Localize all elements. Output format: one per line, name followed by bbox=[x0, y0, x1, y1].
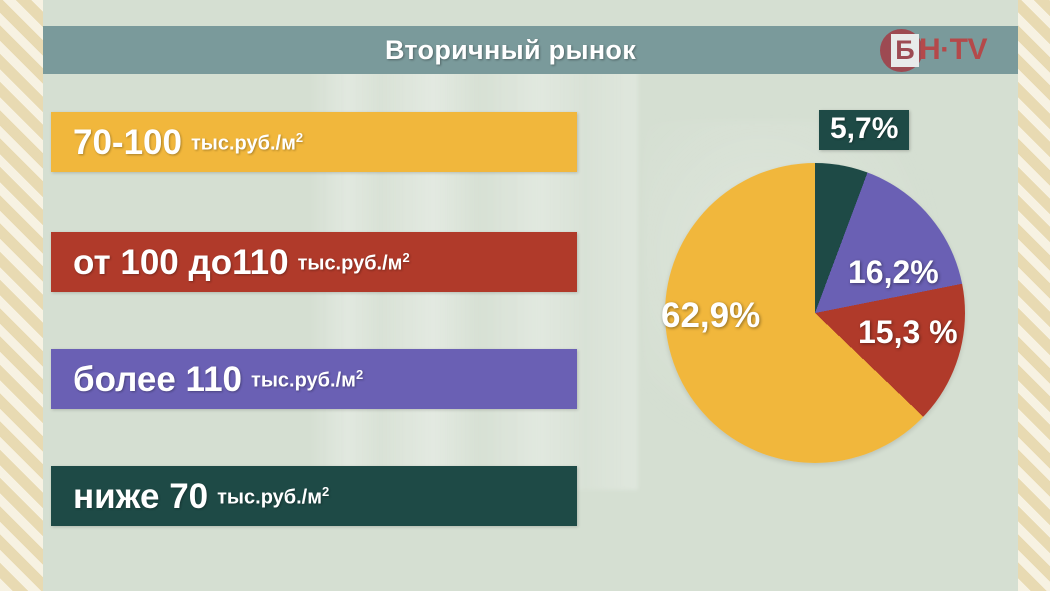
legend-item-unit: тыс.руб./м2 bbox=[191, 131, 303, 154]
legend-item-100-110: от 100 до110 тыс.руб./м2 bbox=[51, 232, 577, 292]
legend-item-unit: тыс.руб./м2 bbox=[298, 251, 410, 274]
legend-item-range: ниже 70 bbox=[73, 479, 208, 514]
infographic-panel: Вторичный рынок Б Н·TV 70-100 тыс.руб./м… bbox=[43, 0, 1018, 591]
pie-slice-label-teal: 5,7% bbox=[830, 112, 898, 145]
pie-slice-callout-teal: 5,7% bbox=[819, 110, 909, 150]
legend-item-above-110: более 110 тыс.руб./м2 bbox=[51, 349, 577, 409]
legend-item-range: от 100 до110 bbox=[73, 245, 289, 280]
legend-item-unit: тыс.руб./м2 bbox=[217, 485, 329, 508]
pie-slice-label-purple: 16,2% bbox=[848, 256, 939, 288]
pie-chart: 62,9% 16,2% 15,3 % bbox=[623, 163, 943, 463]
logo-letter-box: Б bbox=[891, 34, 919, 67]
header-bar: Вторичный рынок bbox=[43, 26, 1018, 74]
legend-item-unit: тыс.руб./м2 bbox=[251, 368, 363, 391]
screenshot-stage: Вторичный рынок Б Н·TV 70-100 тыс.руб./м… bbox=[0, 0, 1050, 591]
legend-item-70-100: 70-100 тыс.руб./м2 bbox=[51, 112, 577, 172]
legend-item-range: более 110 bbox=[73, 362, 242, 397]
legend-item-range: 70-100 bbox=[73, 125, 182, 160]
logo-wordmark: Н·TV bbox=[919, 33, 987, 67]
page-title: Вторичный рынок bbox=[385, 35, 636, 66]
channel-logo: Б Н·TV bbox=[880, 30, 1005, 71]
pie-slice-label-yellow: 62,9% bbox=[661, 298, 760, 333]
logo-letter: Б bbox=[895, 37, 914, 64]
pie-slice-label-red: 15,3 % bbox=[858, 316, 958, 348]
legend-item-below-70: ниже 70 тыс.руб./м2 bbox=[51, 466, 577, 526]
